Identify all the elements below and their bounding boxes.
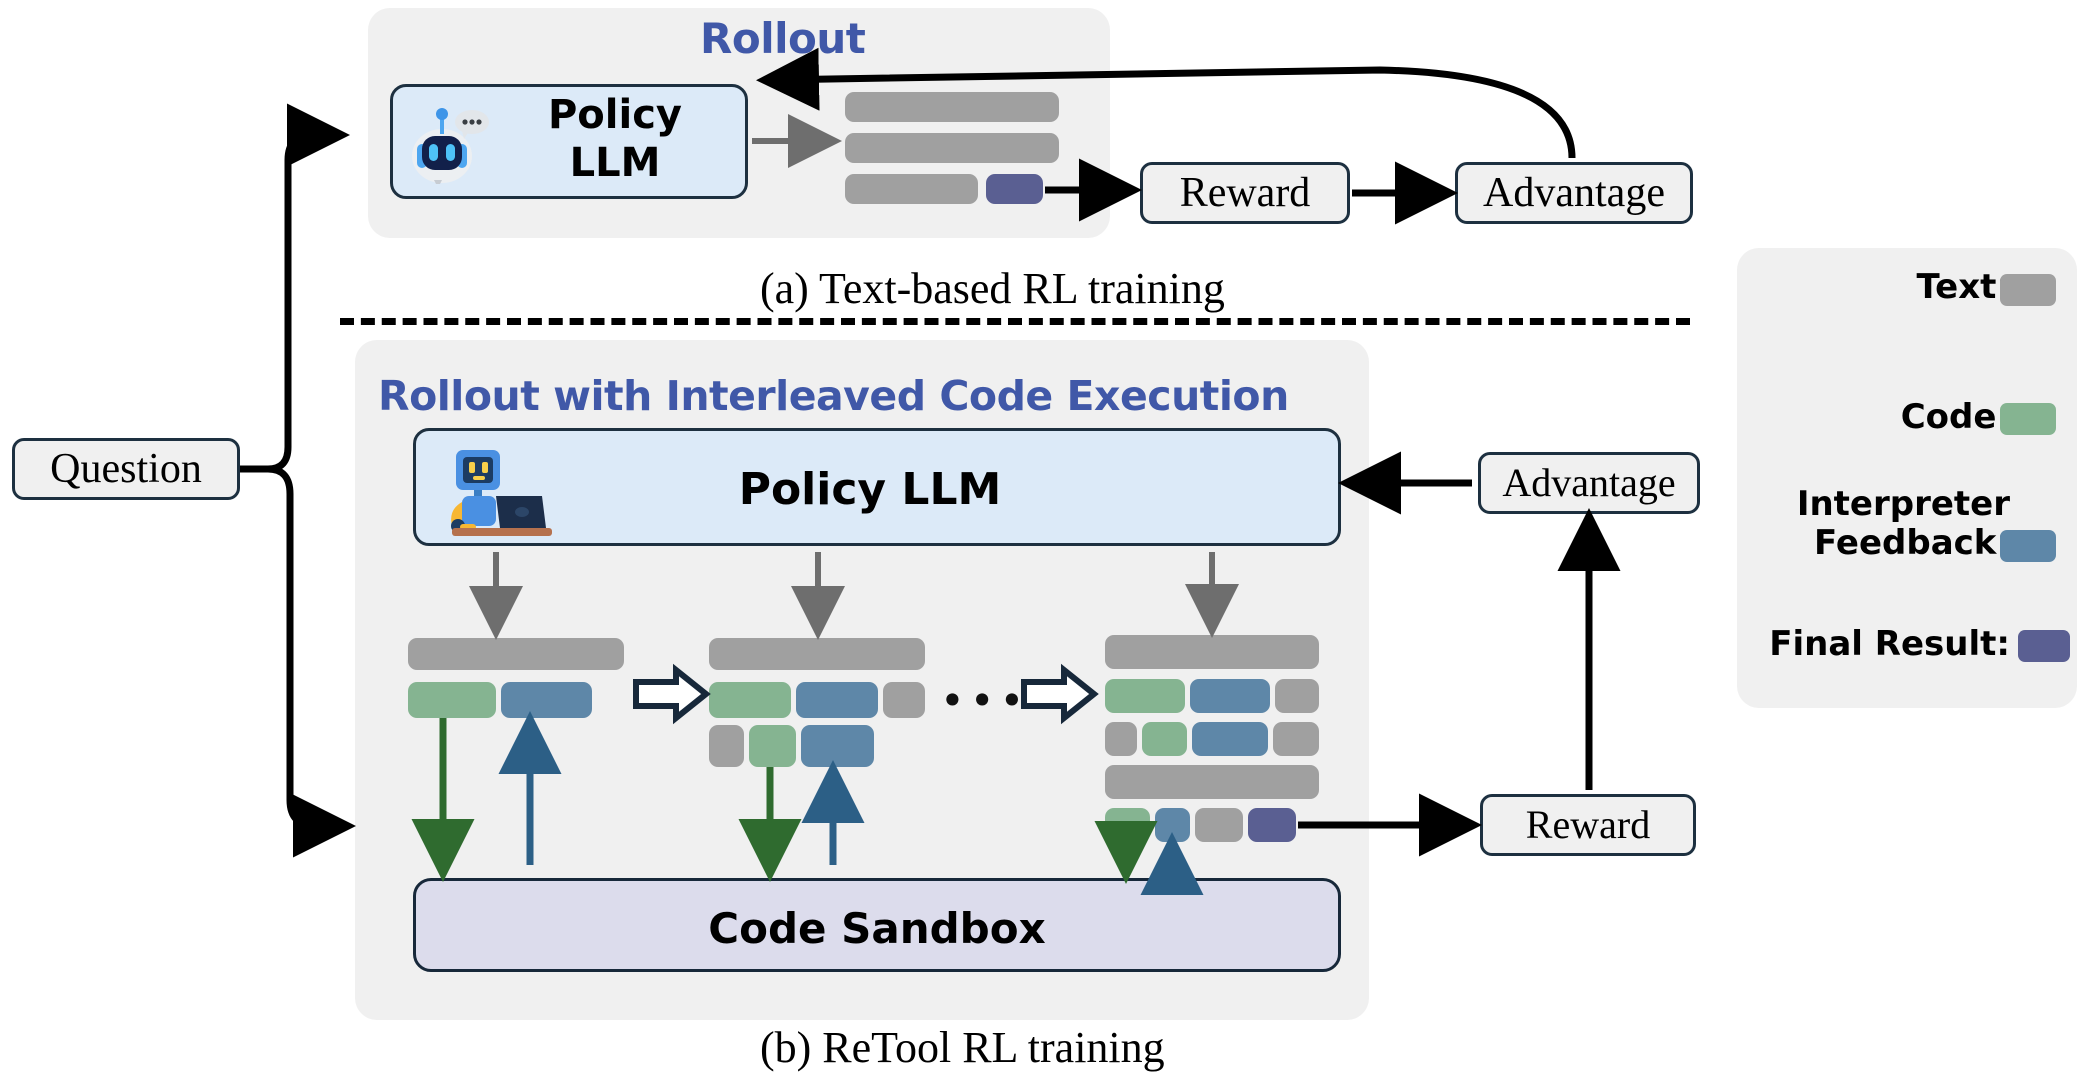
panel-b-g2-code-chip	[709, 682, 791, 718]
panel-b-g2-text-chip	[709, 725, 744, 767]
legend-swatch-code	[2000, 403, 2056, 435]
panel-a-policy-llm-label-line1: Policy	[500, 92, 730, 138]
panel-b-rollout-title: Rollout with Interleaved Code Execution	[378, 372, 1289, 420]
code-sandbox-label: Code Sandbox	[413, 904, 1341, 953]
panel-b-g3-text-chip	[1275, 679, 1319, 713]
legend-label-text: Text:	[1760, 268, 2010, 307]
legend-swatch-final-result	[2018, 630, 2070, 662]
panel-a-token-chip	[845, 174, 978, 204]
panel-b-g3-text-chip	[1105, 765, 1319, 799]
legend-label-interpreter-feedback: Interpreter Feedback:	[1700, 485, 2010, 563]
panel-b-advantage-node[interactable]: Advantage	[1478, 452, 1700, 514]
panel-b-g2-text-chip	[883, 682, 925, 718]
panel-a-final-result-chip	[986, 174, 1043, 204]
panel-b-policy-llm-label: Policy LLM	[600, 464, 1140, 515]
panel-b-g3-text-chip	[1105, 722, 1137, 756]
panel-b-caption: (b) ReTool RL training	[760, 1022, 1165, 1073]
panel-b-robot-laptop-icon	[438, 440, 558, 538]
panel-b-g2-text-chip	[709, 638, 925, 670]
panel-b-g3-code-chip	[1142, 722, 1187, 756]
panel-a-reward-node[interactable]: Reward	[1140, 162, 1350, 224]
panel-b-g1-feedback-chip	[501, 682, 592, 718]
panel-b-g2-feedback-chip	[801, 725, 874, 767]
question-node[interactable]: Question	[12, 438, 240, 500]
panel-b-g3-text-chip	[1195, 808, 1243, 842]
legend-label-final-result: Final Result:	[1700, 625, 2010, 664]
arrow-question-to-panel-a	[240, 135, 336, 469]
legend-swatch-text	[2000, 274, 2056, 306]
panel-a-advantage-node[interactable]: Advantage	[1455, 162, 1693, 224]
panel-b-g1-code-chip	[408, 682, 496, 718]
panel-b-g3-text-chip	[1105, 635, 1319, 669]
panel-b-g1-text-chip	[408, 638, 624, 670]
arrow-question-to-panel-b	[240, 469, 342, 826]
panel-b-g3-final-result-chip	[1248, 808, 1296, 842]
panel-b-ellipsis: •••	[940, 676, 1029, 725]
panel-b-g3-feedback-chip	[1190, 679, 1270, 713]
panel-b-g2-feedback-chip	[796, 682, 878, 718]
panel-b-g3-feedback-chip	[1155, 808, 1190, 842]
legend-label-code: Code:	[1760, 398, 2010, 437]
section-divider	[340, 318, 1690, 325]
panel-a-rollout-title: Rollout	[700, 14, 865, 63]
panel-a-token-chip	[845, 92, 1059, 122]
panel-a-caption: (a) Text-based RL training	[760, 263, 1225, 314]
figure-canvas: Rollout Policy LLM Reward Advantage (a) …	[0, 0, 2088, 1084]
panel-b-g3-feedback-chip	[1192, 722, 1268, 756]
panel-b-g2-code-chip	[749, 725, 796, 767]
panel-a-policy-llm-label-line2: LLM	[500, 140, 730, 186]
legend-swatch-interpreter-feedback	[2000, 530, 2056, 562]
panel-b-g3-code-chip	[1105, 679, 1185, 713]
panel-b-g3-text-chip	[1273, 722, 1319, 756]
panel-b-g3-code-chip	[1105, 808, 1150, 842]
panel-a-token-chip	[845, 133, 1059, 163]
panel-b-reward-node[interactable]: Reward	[1480, 794, 1696, 856]
panel-a-robot-icon	[412, 98, 494, 184]
